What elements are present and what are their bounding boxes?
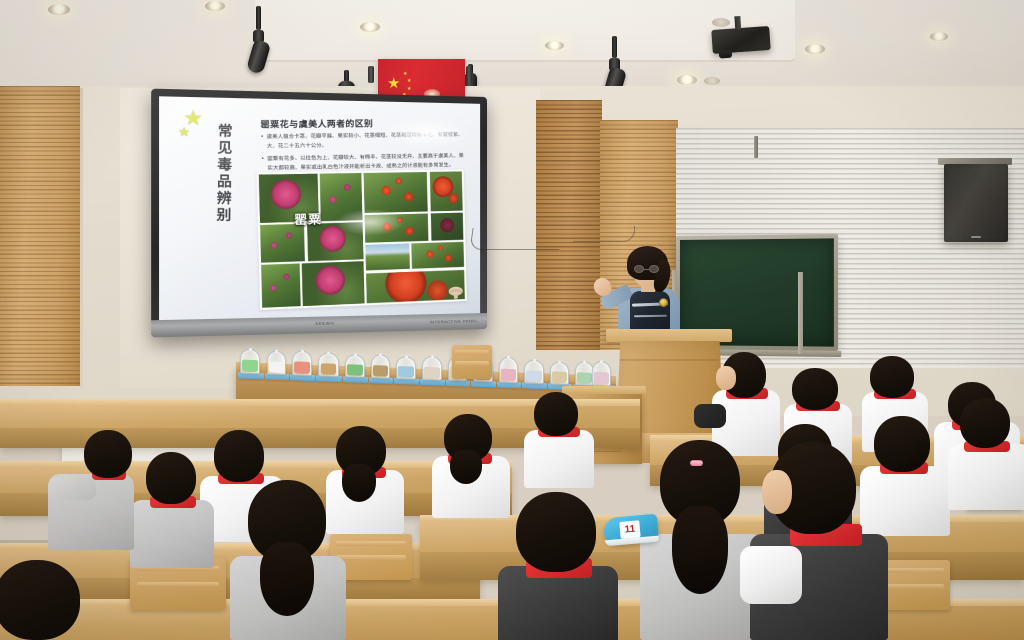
jar-knob	[275, 350, 278, 353]
jar-contents	[424, 367, 439, 379]
jar-contents	[269, 361, 283, 373]
student-head	[516, 492, 596, 572]
track-spotlight-1	[248, 6, 268, 76]
jar-contents	[552, 372, 566, 383]
student-mid-1	[520, 392, 598, 488]
slide-photo-collage: 罂粟	[257, 169, 467, 310]
photo-poppy-pair	[302, 262, 364, 306]
wall-seam	[80, 88, 83, 388]
collage-row	[366, 242, 465, 271]
jar-contents	[526, 370, 541, 382]
student-ponytail	[672, 506, 728, 594]
jar-knob	[558, 361, 561, 364]
jar-contents	[594, 372, 608, 384]
photo-cornpoppy-group	[411, 242, 464, 269]
slide-vertical-title: 常见毒品辨别	[211, 123, 234, 224]
interactive-flat-panel[interactable]: ★ ★ 常见毒品辨别 罂粟花与虞美人两者的区别 • 虞美人植合卡茎、花瓣平展、果…	[151, 89, 487, 338]
projector-mount-arm	[734, 16, 741, 29]
student-mid-right-3	[944, 398, 1024, 510]
photo-cornpoppy-field	[365, 214, 429, 242]
specimen-jar[interactable]	[345, 354, 365, 378]
slide-bullet-item: • 虞美人植合卡茎、花瓣平展、果实较小、花茎细短、花茎和汉均有卡毛、有窗枝紫、大…	[261, 131, 468, 152]
glasses-icon	[634, 265, 659, 273]
presenter-officer	[596, 246, 702, 342]
blue-sneaker-on-desk: 11	[603, 514, 659, 547]
spotlight-stem	[256, 6, 261, 30]
ceiling-projector	[711, 26, 771, 54]
jar-contents	[398, 366, 413, 377]
bullet-dot-icon: •	[261, 133, 264, 152]
flag-small-star-icon: ★	[407, 87, 411, 92]
photo-cornpoppy-bud	[431, 213, 464, 240]
jar-knob	[533, 359, 536, 362]
photo-cornpoppy-field	[364, 172, 428, 213]
photo-poppy-field	[260, 224, 305, 263]
student-uniform-top	[524, 430, 594, 488]
panel-cable-1	[469, 228, 562, 250]
sneaker-number-label: 11	[619, 520, 640, 539]
flag-bracket-right	[466, 66, 472, 83]
specimen-jar[interactable]	[422, 356, 442, 381]
specimen-jar[interactable]	[371, 354, 390, 379]
panel-cable-2	[573, 226, 635, 242]
downlight-5	[712, 18, 730, 27]
jar-knob	[327, 352, 330, 355]
student-head	[960, 398, 1010, 448]
presentation-slide: ★ ★ 常见毒品辨别 罂粟花与虞美人两者的区别 • 虞美人植合卡茎、花瓣平展、果…	[159, 96, 480, 320]
downlight-2	[205, 1, 225, 11]
jar-knob	[249, 348, 252, 351]
photo-poppy-bloom	[307, 222, 363, 261]
hair-clip-icon	[690, 460, 703, 466]
student-front-boy-center	[492, 492, 624, 640]
collage-column-cornpoppy: 虞美人	[364, 171, 465, 303]
flag-small-star-icon: ★	[403, 72, 407, 77]
jar-knob	[507, 356, 510, 359]
downlight-1	[48, 4, 70, 15]
wall-speaker-1	[944, 164, 1008, 242]
bullet-dot-icon: •	[262, 155, 265, 174]
speaker-bracket-2	[754, 136, 758, 158]
chair-slat	[455, 361, 489, 366]
projector-lens-icon	[719, 50, 733, 59]
student-sleeve	[740, 546, 802, 604]
downlight-9	[930, 32, 948, 41]
mushroom-illustration-icon	[448, 286, 464, 300]
collage-row	[261, 262, 364, 308]
star-small-icon: ★	[178, 126, 190, 139]
student-face	[716, 366, 736, 390]
chair-behind-counter	[452, 345, 492, 379]
speaker-mesh	[947, 167, 1005, 239]
student-arm	[694, 404, 726, 428]
spotlight-head	[245, 39, 270, 74]
student-head	[146, 452, 196, 504]
glasses-lens-right	[649, 265, 659, 273]
chair-slat	[137, 582, 220, 587]
flag-large-star-icon: ★	[387, 76, 400, 91]
jar-contents	[294, 361, 309, 373]
downlight-4	[545, 41, 564, 50]
wood-slat-panel-left	[0, 86, 80, 386]
specimen-jar[interactable]	[267, 350, 286, 375]
specimen-jar[interactable]	[292, 350, 312, 376]
panel-brand-label: SEEWO	[315, 320, 334, 326]
student-ponytail	[260, 542, 314, 616]
jar-knob	[301, 350, 304, 353]
student-ponytail	[450, 450, 482, 484]
student-uniform-top	[130, 500, 214, 568]
jar-knob	[405, 355, 408, 358]
glasses-bridge	[644, 269, 649, 270]
wood-slat-panel-center	[536, 100, 602, 350]
jar-knob	[583, 360, 586, 363]
specimen-jar[interactable]	[396, 356, 416, 380]
panel-model-label: INTERACTIVE PANEL	[429, 318, 478, 324]
collage-row	[365, 213, 464, 242]
photo-poppy-field	[320, 173, 362, 221]
collage-row	[364, 171, 463, 212]
jar-contents	[321, 363, 337, 375]
specimen-jar[interactable]	[499, 357, 518, 384]
flag-small-star-icon: ★	[407, 79, 411, 84]
downlight-7	[805, 44, 825, 54]
student-face	[762, 470, 792, 514]
slide-heading: 罂粟花与虞美人两者的区别	[260, 117, 373, 130]
jar-contents	[577, 372, 591, 384]
glasses-lens-left	[634, 265, 644, 273]
collage-column-poppy: 罂粟	[259, 173, 365, 308]
downlight-6	[677, 75, 697, 85]
downlight-8	[704, 77, 720, 85]
jar-knob	[354, 353, 357, 356]
collage-row	[260, 222, 363, 262]
chair-slat	[455, 350, 489, 355]
jar-contents	[373, 365, 387, 377]
student-front-boy-right	[746, 442, 892, 640]
student-uniform-top	[948, 444, 1024, 510]
jar-contents	[242, 360, 257, 372]
photo-cornpoppy-closeup	[430, 171, 463, 211]
student-head	[214, 430, 264, 482]
flag-bracket-left	[368, 66, 374, 83]
specimen-jar[interactable]	[550, 361, 569, 385]
student-front-far-left	[0, 560, 104, 640]
student-head	[0, 560, 80, 640]
student-head	[870, 356, 914, 398]
student-front-girl-ponytail	[222, 480, 352, 640]
student-mid-6-graytop	[18, 430, 134, 550]
panel-screen[interactable]: ★ ★ 常见毒品辨别 罂粟花与虞美人两者的区别 • 虞美人植合卡茎、花瓣平展、果…	[159, 96, 480, 320]
specimen-jar[interactable]	[592, 361, 611, 387]
downlight-3	[360, 22, 380, 32]
student-head	[534, 392, 578, 436]
jar-knob	[431, 355, 434, 358]
presenter-badge-icon	[659, 298, 668, 307]
specimen-jar[interactable]	[240, 349, 260, 375]
photo-poppy-plants	[261, 264, 300, 308]
spotlight-stem	[612, 36, 617, 58]
jar-contents	[347, 364, 362, 375]
jar-contents	[501, 368, 515, 381]
student-mid-5	[128, 452, 218, 568]
classroom-scene: ★ ★ ★ ★ ★ ★ ★ 常见毒品辨别	[0, 0, 1024, 640]
speaker-brand-mark	[971, 236, 981, 239]
photo-cornpoppy-landscape	[366, 244, 410, 271]
chalkboard-leg-right	[798, 272, 803, 354]
jar-knob	[600, 360, 603, 363]
jar-knob	[379, 353, 382, 356]
bullet-text: 虞美人植合卡茎、花瓣平展、果实较小、花茎细短、花茎和汉均有卡毛、有窗枝紫、大、花…	[266, 131, 468, 152]
specimen-jar[interactable]	[318, 352, 339, 377]
lectern-top	[606, 329, 732, 342]
collage-label-poppy: 罂粟	[294, 210, 322, 228]
student-arm-gray	[48, 478, 96, 500]
specimen-jar[interactable]	[524, 359, 544, 384]
student-head	[84, 430, 132, 478]
student-head	[792, 368, 838, 410]
